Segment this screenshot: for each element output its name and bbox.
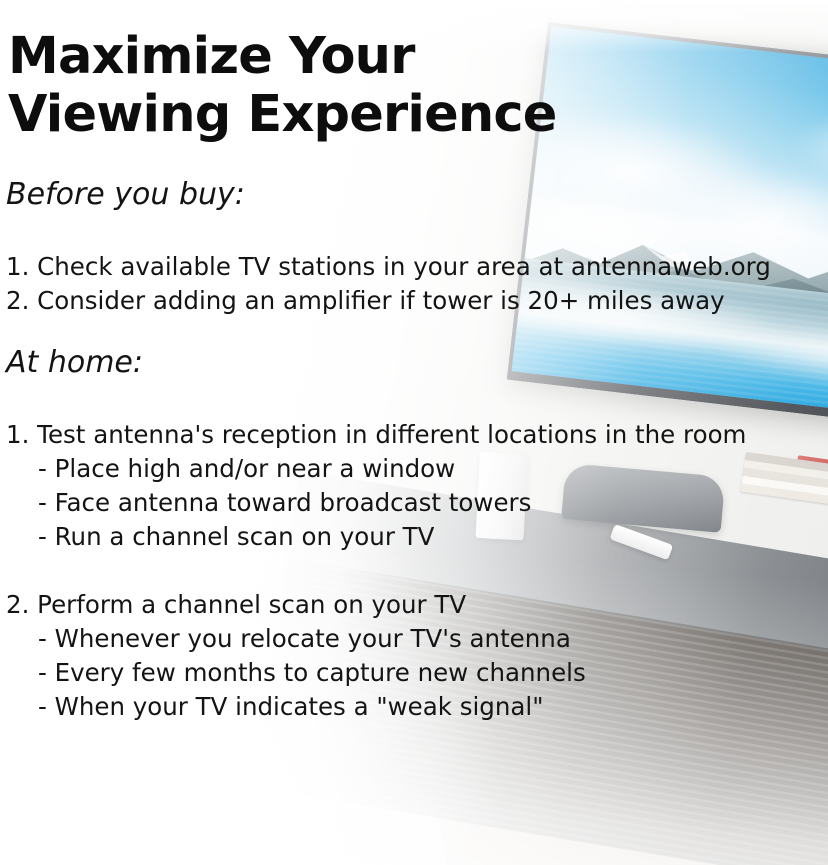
list-item: - Whenever you relocate your TV's antenn… — [6, 622, 816, 656]
list-item: - Place high and/or near a window — [6, 452, 816, 486]
section-heading-at-home: At home: — [6, 346, 143, 380]
steps-list-at-home: 1. Test antenna's reception in different… — [6, 418, 816, 724]
section-heading-before-you-buy: Before you buy: — [6, 178, 245, 212]
list-spacer — [6, 554, 816, 588]
list-item: - Run a channel scan on your TV — [6, 520, 816, 554]
poster-canvas: Maximize Your Viewing Experience Before … — [0, 0, 828, 865]
list-item: - Face antenna toward broadcast towers — [6, 486, 816, 520]
list-item: - Every few months to capture new channe… — [6, 656, 816, 690]
list-item: 1. Test antenna's reception in different… — [6, 418, 816, 452]
text-overlay: Maximize Your Viewing Experience Before … — [0, 0, 828, 865]
list-item: - When your TV indicates a "weak signal" — [6, 690, 816, 724]
steps-list-before-you-buy: 1. Check available TV stations in your a… — [6, 250, 816, 318]
list-item: 1. Check available TV stations in your a… — [6, 250, 816, 284]
page-title: Maximize Your Viewing Experience — [8, 28, 628, 144]
list-item: 2. Perform a channel scan on your TV — [6, 588, 816, 622]
list-item: 2. Consider adding an amplifier if tower… — [6, 284, 816, 318]
